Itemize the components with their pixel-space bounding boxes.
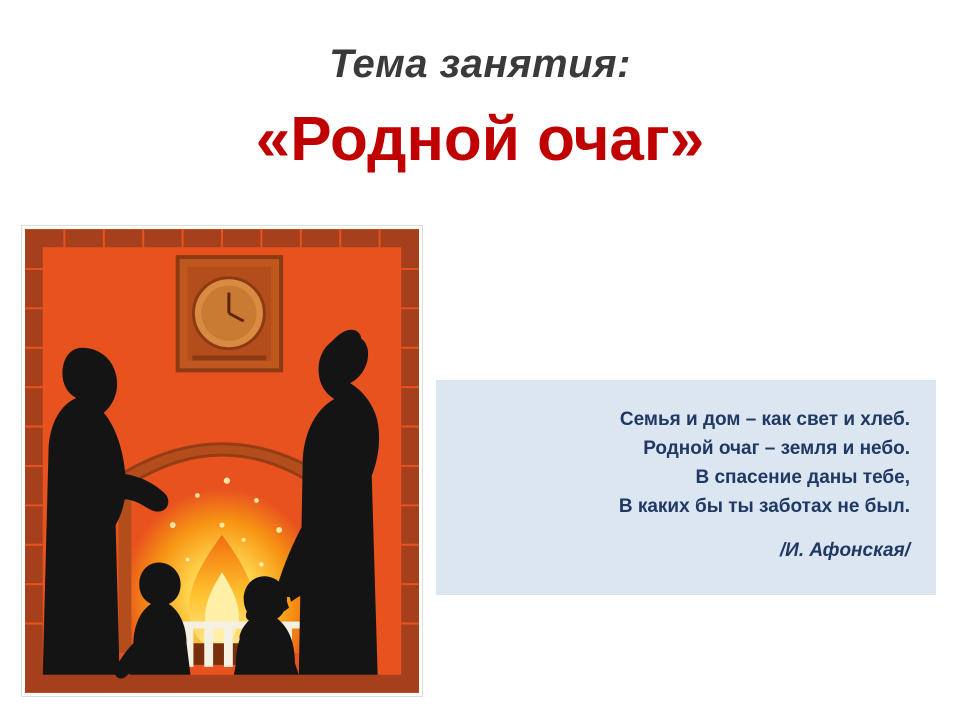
family-silhouette-image	[22, 226, 422, 696]
poem-box: Семья и дом – как свет и хлеб. Родной оч…	[436, 380, 936, 595]
title-block: Тема занятия: «Родной очаг»	[0, 42, 960, 175]
page-title: «Родной очаг»	[0, 104, 960, 175]
poem-line: Семья и дом – как свет и хлеб.	[462, 406, 910, 435]
wall-clock-picture	[178, 257, 281, 370]
poem-author: /И. Афонская/	[462, 540, 910, 562]
page-subtitle: Тема занятия:	[0, 42, 960, 86]
poem-line: В каких бы ты заботах не был.	[462, 493, 910, 522]
family-silhouette-graphic	[25, 229, 419, 693]
poem-line: Родной очаг – земля и небо.	[462, 435, 910, 464]
slide: Тема занятия: «Родной очаг»	[0, 0, 960, 720]
poem-line: В спасение даны тебе,	[462, 464, 910, 493]
